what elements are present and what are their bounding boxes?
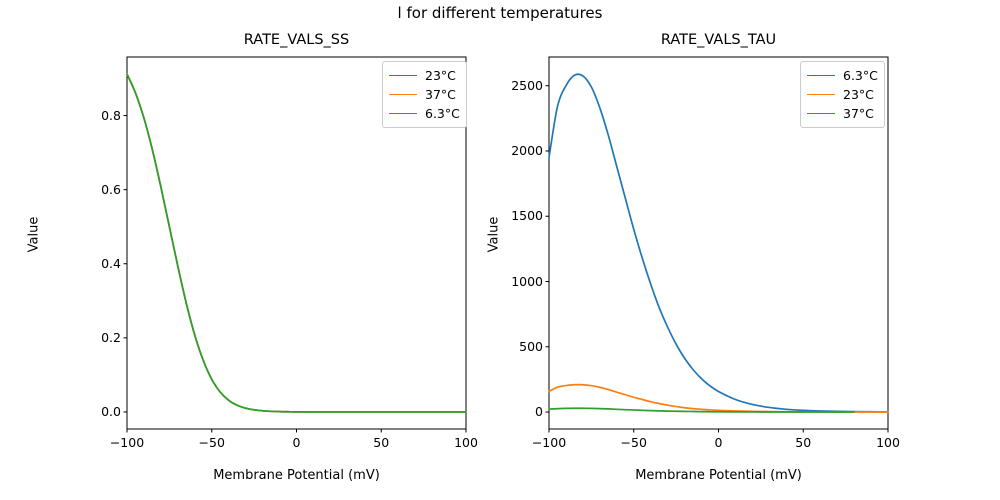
y-tick-label: 0.6 bbox=[51, 182, 121, 197]
x-tick-label: −100 bbox=[87, 435, 167, 450]
legend-right[interactable]: 6.3°C23°C37°C bbox=[800, 61, 885, 128]
legend-entry[interactable]: 23°C bbox=[807, 85, 878, 104]
x-tick-label: −50 bbox=[594, 435, 674, 450]
legend-entry[interactable]: 37°C bbox=[807, 104, 878, 123]
legend-swatch-line bbox=[807, 113, 835, 114]
figure-canvas: l for different temperatures RATE_VALS_S… bbox=[0, 0, 1000, 500]
x-tick-label: −100 bbox=[509, 435, 589, 450]
x-tick-label: 100 bbox=[426, 435, 506, 450]
y-tick-label: 0.8 bbox=[51, 108, 121, 123]
legend-label: 23°C bbox=[843, 87, 874, 102]
x-tick-label: −50 bbox=[172, 435, 252, 450]
legend-label: 37°C bbox=[843, 106, 874, 121]
x-tick-label: 50 bbox=[763, 435, 843, 450]
x-tick-label: 0 bbox=[679, 435, 759, 450]
x-tick-label: 100 bbox=[848, 435, 928, 450]
x-tick-label: 0 bbox=[257, 435, 337, 450]
y-tick-label: 1000 bbox=[473, 274, 543, 289]
y-tick-label: 0.2 bbox=[51, 330, 121, 345]
y-tick-label: 0.0 bbox=[51, 404, 121, 419]
x-axis-label-right: Membrane Potential (mV) bbox=[549, 468, 888, 483]
legend-swatch-line bbox=[807, 94, 835, 95]
y-tick-label: 2000 bbox=[473, 143, 543, 158]
y-axis-label-right: Value bbox=[487, 185, 502, 285]
y-tick-label: 500 bbox=[473, 339, 543, 354]
legend-entry[interactable]: 6.3°C bbox=[807, 66, 878, 85]
y-tick-label: 1500 bbox=[473, 208, 543, 223]
y-tick-label: 0 bbox=[473, 404, 543, 419]
y-tick-label: 2500 bbox=[473, 78, 543, 93]
y-tick-label: 0.4 bbox=[51, 256, 121, 271]
legend-label: 6.3°C bbox=[843, 68, 878, 83]
x-tick-label: 50 bbox=[341, 435, 421, 450]
legend-swatch-line bbox=[807, 75, 835, 76]
